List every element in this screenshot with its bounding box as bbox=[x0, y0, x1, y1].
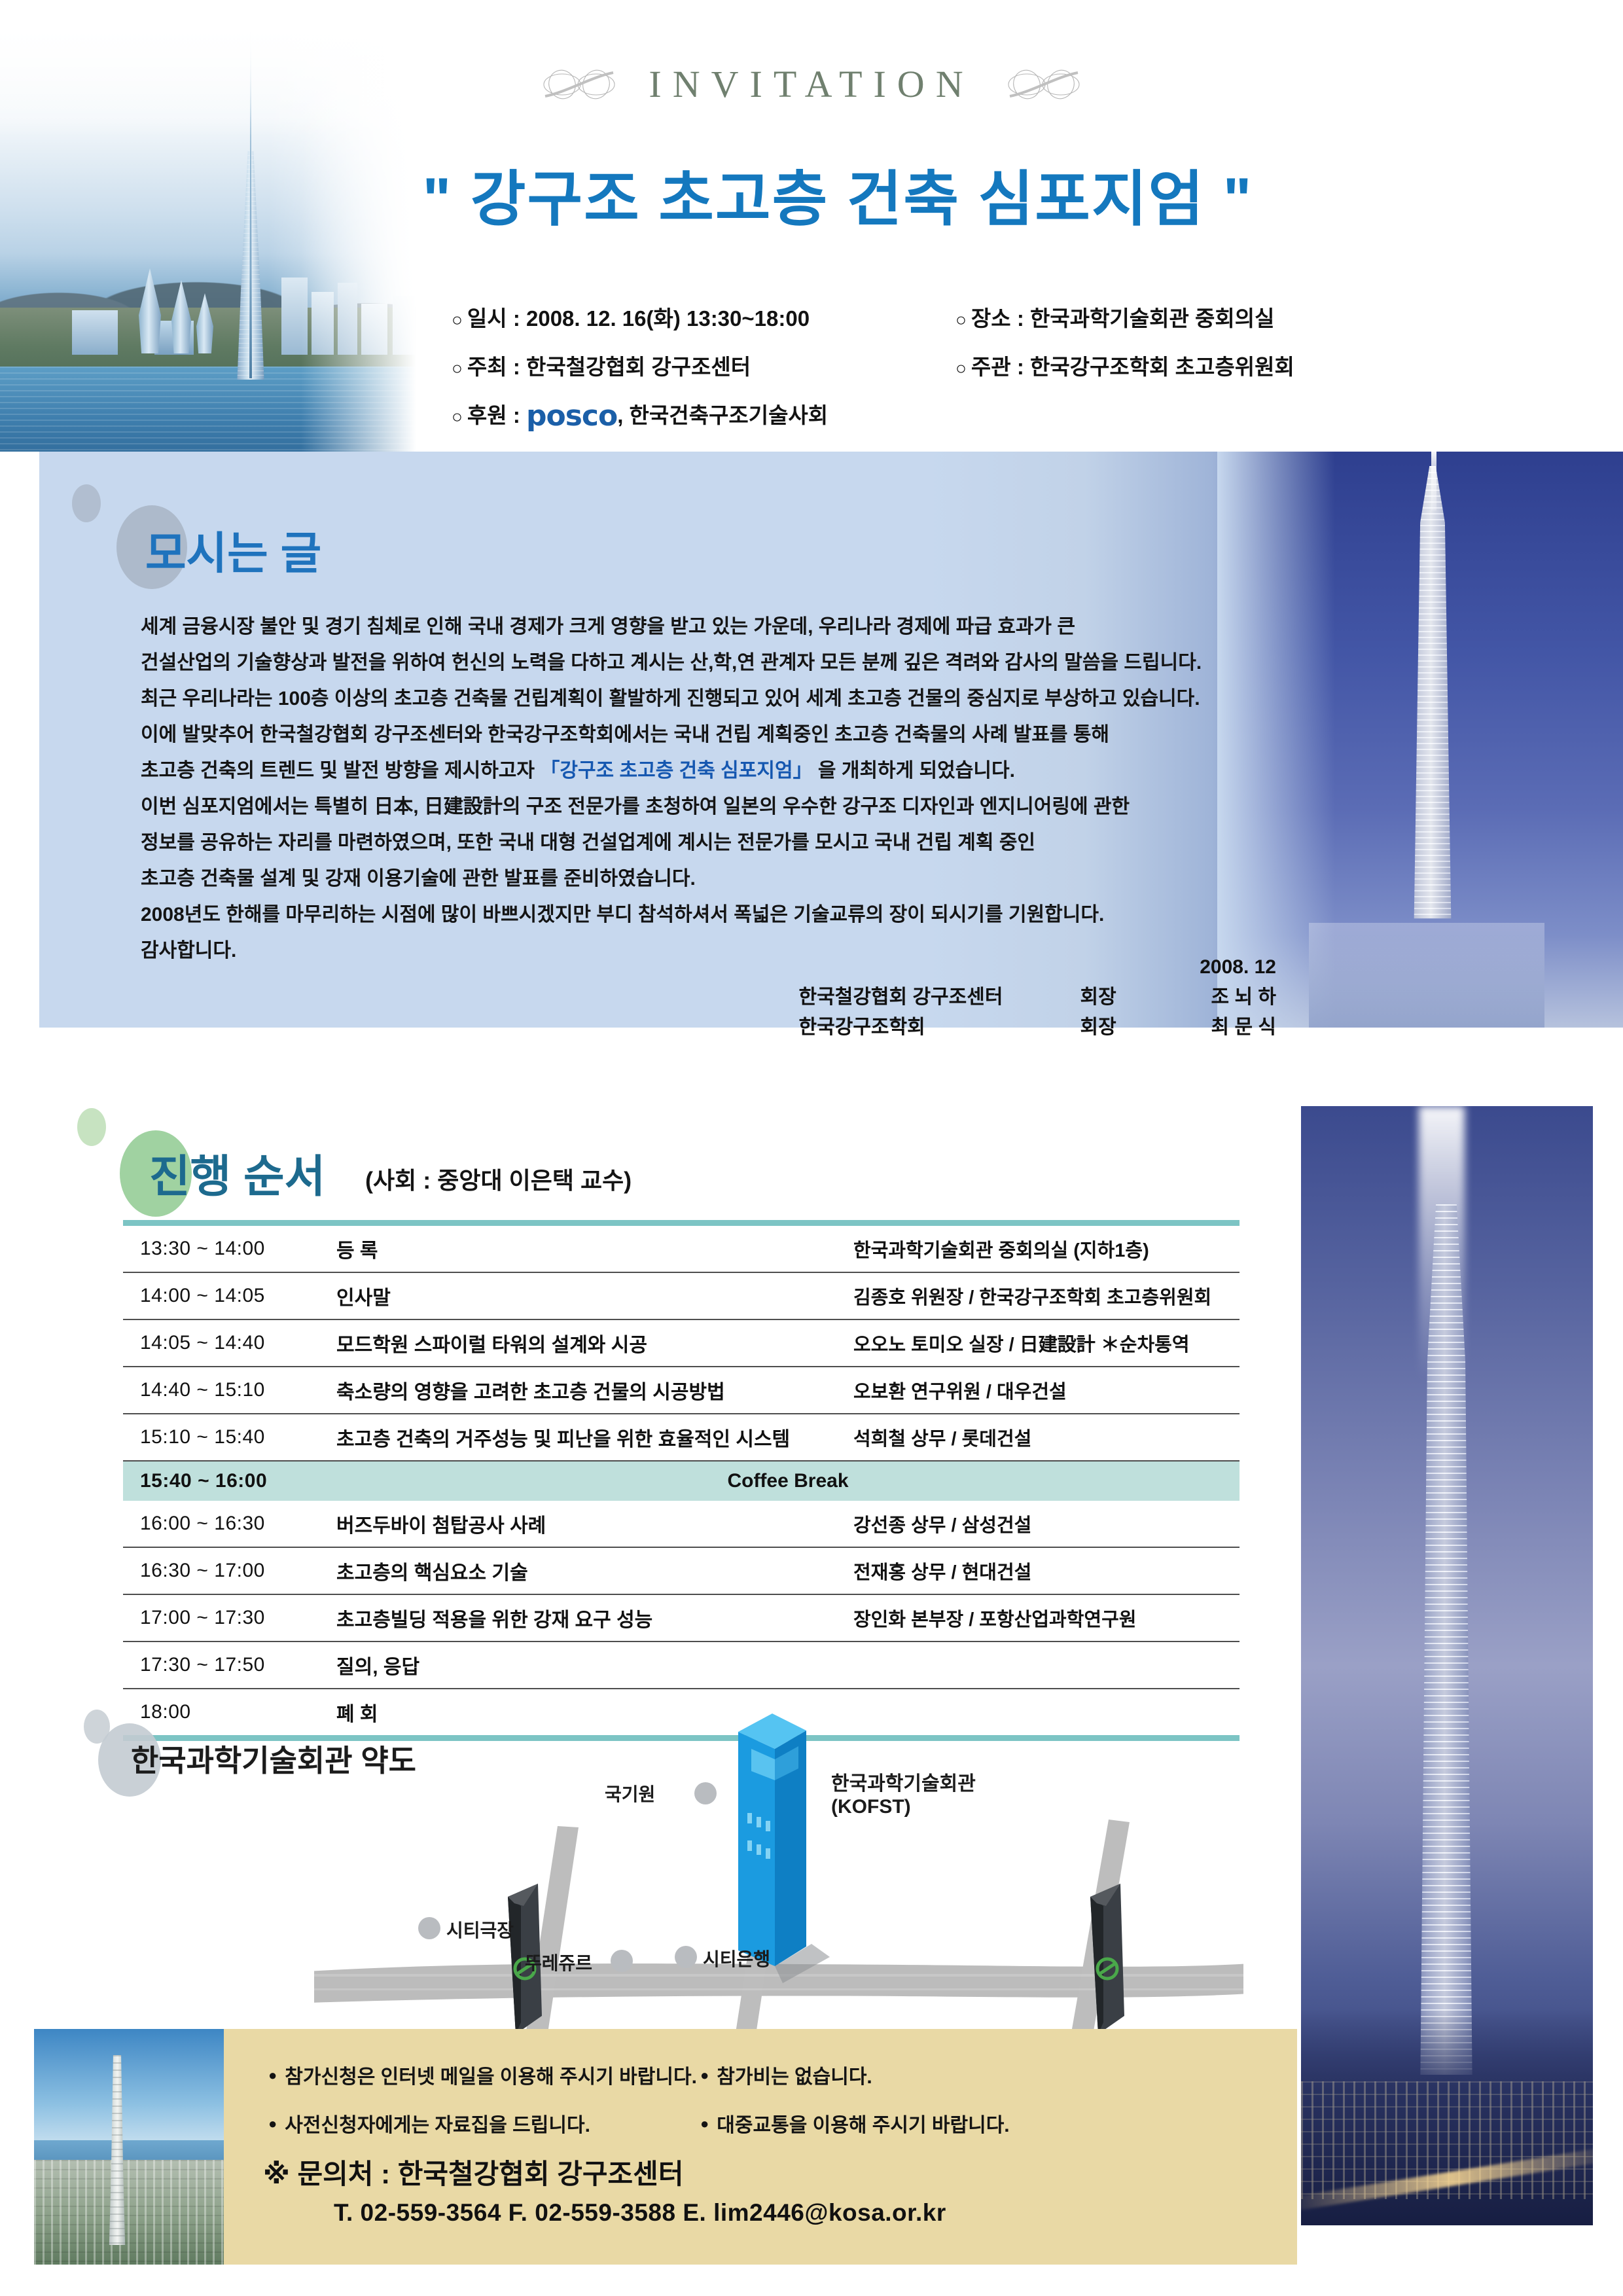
program-subheading: (사회 : 중앙대 이은택 교수) bbox=[365, 1162, 632, 1196]
signature-date: 2008. 12 bbox=[654, 952, 1276, 982]
meta-sponsor: ○후원 : posco, 한국건축구조기술사회 bbox=[452, 398, 955, 433]
bullet-icon: ● bbox=[268, 2115, 277, 2132]
sky bbox=[34, 2029, 224, 2153]
note-item: ●참가비는 없습니다. bbox=[700, 2060, 1158, 2089]
hero-section: INVITATION " 강구조 초고층 건축 심포지엄 " ○일시 : 200… bbox=[0, 0, 1623, 452]
schedule-topic: 인사말 bbox=[336, 1272, 853, 1319]
meta-organizer-value: 한국강구조학회 초고층위원회 bbox=[1030, 355, 1294, 379]
meta-date-label: 일시 bbox=[467, 306, 507, 331]
meta-organizer: ○주관 : 한국강구조학회 초고층위원회 bbox=[955, 350, 1433, 381]
decor-dot-small bbox=[77, 1108, 106, 1146]
map-label-citibank: 시티은행 bbox=[703, 1945, 770, 1971]
footer-notes: ●참가신청은 인터넷 메일을 이용해 주시기 바랍니다. ●참가비는 없습니다.… bbox=[268, 2060, 1250, 2138]
poi-dot-city-theater bbox=[418, 1917, 440, 1939]
schedule-topic: 초고층빌딩 적용을 위한 강재 요구 성능 bbox=[336, 1594, 853, 1641]
supertall-tower bbox=[1403, 1204, 1489, 2075]
poi-dot-gukgiwon bbox=[694, 1782, 717, 1804]
building-block bbox=[72, 310, 118, 355]
signer-row: 한국철강협회 강구조센터 회장 조 뇌 하 bbox=[654, 982, 1276, 1013]
greeting-line: 이에 발맞추어 한국철강협회 강구조센터와 한국강구조학회에서는 국내 건립 계… bbox=[141, 717, 1273, 753]
schedule-topic: 버즈두바이 첨탑공사 사례 bbox=[336, 1501, 853, 1547]
schedule-top-rule bbox=[123, 1220, 1240, 1226]
schedule-row: 17:00 ~ 17:30초고층빌딩 적용을 위한 강재 요구 성능장인화 본부… bbox=[123, 1594, 1240, 1641]
signer-name: 조 뇌 하 bbox=[1211, 982, 1276, 1013]
symposium-name-highlight: 「강구조 초고층 건축 심포지엄」 bbox=[540, 760, 812, 781]
flourish-right-icon bbox=[1005, 66, 1083, 103]
schedule-speaker: 한국과학기술회관 중회의실 (지하1층) bbox=[853, 1226, 1240, 1272]
bullet-icon: ● bbox=[268, 2067, 277, 2083]
meta-date-value: 2008. 12. 16(화) 13:30~18:00 bbox=[526, 306, 810, 331]
schedule-row: 15:10 ~ 15:40초고층 건축의 거주성능 및 피난을 위한 효율적인 … bbox=[123, 1414, 1240, 1461]
greeting-heading: 모시는 글 bbox=[145, 517, 321, 582]
page-title: " 강구조 초고층 건축 심포지엄 " bbox=[314, 151, 1361, 238]
note-text: 참가비는 없습니다. bbox=[717, 2066, 872, 2088]
schedule-row: 14:00 ~ 14:05인사말김종호 위원장 / 한국강구조학회 초고층위원회 bbox=[123, 1272, 1240, 1319]
schedule-speaker: 오보환 연구위원 / 대우건설 bbox=[853, 1367, 1240, 1414]
schedule-time: 14:40 ~ 15:10 bbox=[123, 1367, 336, 1414]
bullet-icon: ● bbox=[700, 2115, 709, 2132]
greeting-tower-spire bbox=[1431, 452, 1436, 511]
map-label-gukgiwon: 국기원 bbox=[605, 1780, 655, 1806]
greeting-line: 이번 심포지엄에서는 특별히 日本, 日建設計의 구조 전문가를 초청하여 일본… bbox=[141, 789, 1273, 825]
schedule-speaker: 오오노 토미오 실장 / 日建設計 ＊순차통역 bbox=[853, 1319, 1240, 1367]
cityscape bbox=[34, 2160, 224, 2265]
meta-place-value: 한국과학기술회관 중회의실 bbox=[1030, 306, 1275, 331]
signer-org: 한국강구조학회 bbox=[799, 1013, 1080, 1043]
program-heading: 진행 순서 bbox=[149, 1140, 325, 1205]
note-item: ●대중교통을 이용해 주시기 바랍니다. bbox=[700, 2109, 1158, 2138]
schedule-row: 16:00 ~ 16:30버즈두바이 첨탑공사 사례강선종 상무 / 삼성건설 bbox=[123, 1501, 1240, 1547]
poi-dot-citibank bbox=[675, 1946, 697, 1968]
map-label-venue: 한국과학기술회관 bbox=[831, 1767, 976, 1796]
greeting-body: 세계 금융시장 불안 및 경기 침체로 인해 국내 경제가 크게 영향을 받고 … bbox=[141, 609, 1273, 969]
schedule-time: 13:30 ~ 14:00 bbox=[123, 1226, 336, 1272]
schedule-time: 16:00 ~ 16:30 bbox=[123, 1501, 336, 1547]
bullet-circle-icon: ○ bbox=[452, 406, 463, 427]
schedule-table: 13:30 ~ 14:00등 록한국과학기술회관 중회의실 (지하1층)14:0… bbox=[123, 1220, 1240, 1741]
greeting-line: 세계 금융시장 불안 및 경기 침체로 인해 국내 경제가 크게 영향을 받고 … bbox=[141, 609, 1273, 645]
greeting-line-highlight: 초고층 건축의 트렌드 및 발전 방향을 제시하고자 「강구조 초고층 건축 심… bbox=[141, 753, 1273, 789]
schedule-time: 17:00 ~ 17:30 bbox=[123, 1594, 336, 1641]
footer-tower-photo bbox=[34, 2029, 224, 2265]
schedule-topic: 등 록 bbox=[336, 1226, 853, 1272]
meta-date: ○일시 : 2008. 12. 16(화) 13:30~18:00 bbox=[452, 301, 955, 332]
signer-row: 한국강구조학회 회장 최 문 식 bbox=[654, 1013, 1276, 1043]
meta-place: ○장소 : 한국과학기술회관 중회의실 bbox=[955, 301, 1433, 332]
signer-name: 최 문 식 bbox=[1211, 1013, 1276, 1043]
highlight-prefix: 초고층 건축의 트렌드 및 발전 방향을 제시하고자 bbox=[141, 760, 540, 781]
schedule-speaker: 석희철 상무 / 롯데건설 bbox=[853, 1414, 1240, 1461]
bullet-icon: ● bbox=[700, 2067, 709, 2083]
contact-details[interactable]: T. 02-559-3564 F. 02-559-3588 E. lim2446… bbox=[334, 2199, 946, 2227]
schedule-time: 18:00 bbox=[123, 1689, 336, 1735]
meta-host: ○주최 : 한국철강협회 강구조센터 bbox=[452, 350, 955, 381]
event-meta: ○일시 : 2008. 12. 16(화) 13:30~18:00 ○장소 : … bbox=[452, 301, 1433, 433]
poi-dot-tourlesjours bbox=[611, 1950, 633, 1972]
signer-title: 회장 bbox=[1080, 1013, 1211, 1043]
meta-host-value: 한국철강협회 강구조센터 bbox=[526, 355, 751, 379]
note-text: 참가신청은 인터넷 메일을 이용해 주시기 바랍니다. bbox=[285, 2066, 697, 2088]
posco-logo: posco bbox=[526, 399, 617, 433]
meta-host-label: 주최 bbox=[467, 355, 507, 379]
schedule-time: 15:40 ~ 16:00 bbox=[123, 1461, 336, 1501]
greeting-signature: 2008. 12 한국철강협회 강구조센터 회장 조 뇌 하 한국강구조학회 회… bbox=[654, 952, 1276, 1043]
bullet-circle-icon: ○ bbox=[452, 358, 463, 378]
schedule-row: 14:40 ~ 15:10축소량의 영향을 고려한 초고층 건물의 시공방법오보… bbox=[123, 1367, 1240, 1414]
bullet-circle-icon: ○ bbox=[955, 358, 967, 378]
contact-title: ※ 문의처 : 한국철강협회 강구조센터 bbox=[263, 2152, 683, 2192]
schedule-topic: 축소량의 영향을 고려한 초고층 건물의 시공방법 bbox=[336, 1367, 853, 1414]
invitation-banner: INVITATION bbox=[419, 62, 1204, 106]
greeting-line: 건설산업의 기술향상과 발전을 위하여 헌신의 노력을 다하고 계시는 산,학,… bbox=[141, 645, 1273, 681]
schedule-speaker: 김종호 위원장 / 한국강구조학회 초고층위원회 bbox=[853, 1272, 1240, 1319]
flourish-left-icon bbox=[540, 66, 618, 103]
signer-title: 회장 bbox=[1080, 982, 1211, 1013]
highlight-suffix: 을 개최하게 되었습니다. bbox=[813, 760, 1015, 781]
schedule-topic: 모드학원 스파이럴 타워의 설계와 시공 bbox=[336, 1319, 853, 1367]
note-item: ●사전신청자에게는 자료집을 드립니다. bbox=[268, 2109, 700, 2138]
schedule-speaker: 장인화 본부장 / 포항산업과학연구원 bbox=[853, 1594, 1240, 1641]
meta-sponsor-label: 후원 bbox=[467, 403, 507, 427]
bullet-circle-icon: ○ bbox=[452, 310, 463, 330]
schedule-time: 17:30 ~ 17:50 bbox=[123, 1641, 336, 1689]
decor-dot-small bbox=[72, 484, 101, 522]
signer-org: 한국철강협회 강구조센터 bbox=[799, 982, 1080, 1013]
night-supertall-photo bbox=[1301, 1106, 1593, 2225]
greeting-line: 2008년도 한해를 마무리하는 시점에 많이 바쁘시겠지만 부디 참석하셔서 … bbox=[141, 897, 1273, 933]
map-label-venue-sub: (KOFST) bbox=[831, 1796, 911, 1818]
schedule-time: 14:00 ~ 14:05 bbox=[123, 1272, 336, 1319]
map-label-city-theater: 시티극장 bbox=[446, 1916, 514, 1943]
schedule-speaker: 강선종 상무 / 삼성건설 bbox=[853, 1501, 1240, 1547]
note-text: 대중교통을 이용해 주시기 바랍니다. bbox=[717, 2115, 1009, 2136]
note-item: ●참가신청은 인터넷 메일을 이용해 주시기 바랍니다. bbox=[268, 2060, 700, 2089]
schedule-time: 14:05 ~ 14:40 bbox=[123, 1319, 336, 1367]
schedule-row: 16:30 ~ 17:00초고층의 핵심요소 기술전재홍 상무 / 현대건설 bbox=[123, 1547, 1240, 1594]
greeting-line: 초고층 건축물 설계 및 강재 이용기술에 관한 발표를 준비하였습니다. bbox=[141, 861, 1273, 897]
note-text: 사전신청자에게는 자료집을 드립니다. bbox=[285, 2115, 590, 2136]
schedule-speaker: 전재홍 상무 / 현대건설 bbox=[853, 1547, 1240, 1594]
kofst-building-icon bbox=[738, 1713, 830, 1983]
schedule-topic: 초고층의 핵심요소 기술 bbox=[336, 1547, 853, 1594]
schedule-rows: 13:30 ~ 14:00등 록한국과학기술회관 중회의실 (지하1층)14:0… bbox=[123, 1226, 1240, 1735]
tower-podium bbox=[1309, 923, 1544, 1028]
bullet-circle-icon: ○ bbox=[955, 310, 967, 330]
schedule-row: 13:30 ~ 14:00등 록한국과학기술회관 중회의실 (지하1층) bbox=[123, 1226, 1240, 1272]
meta-organizer-label: 주관 bbox=[971, 355, 1011, 379]
meta-place-label: 장소 bbox=[971, 306, 1011, 331]
schedule-row: 15:40 ~ 16:00Coffee Break bbox=[123, 1461, 1240, 1501]
greeting-line: 정보를 공유하는 자리를 마련하였으며, 또한 국내 대형 건설업계에 계시는 … bbox=[141, 825, 1273, 861]
greeting-line: 최근 우리나라는 100층 이상의 초고층 건축물 건립계획이 활발하게 진행되… bbox=[141, 681, 1273, 717]
invitation-word: INVITATION bbox=[649, 62, 974, 106]
schedule-topic: 초고층 건축의 거주성능 및 피난을 위한 효율적인 시스템 bbox=[336, 1414, 853, 1461]
schedule-topic: Coffee Break bbox=[336, 1461, 1240, 1501]
schedule-row: 14:05 ~ 14:40모드학원 스파이럴 타워의 설계와 시공오오노 토미오… bbox=[123, 1319, 1240, 1367]
map-label-tourlesjours: 뚜레쥬르 bbox=[525, 1949, 592, 1975]
schedule-time: 15:10 ~ 15:40 bbox=[123, 1414, 336, 1461]
meta-sponsor-rest: , 한국건축구조기술사회 bbox=[617, 403, 828, 427]
schedule-time: 16:30 ~ 17:00 bbox=[123, 1547, 336, 1594]
